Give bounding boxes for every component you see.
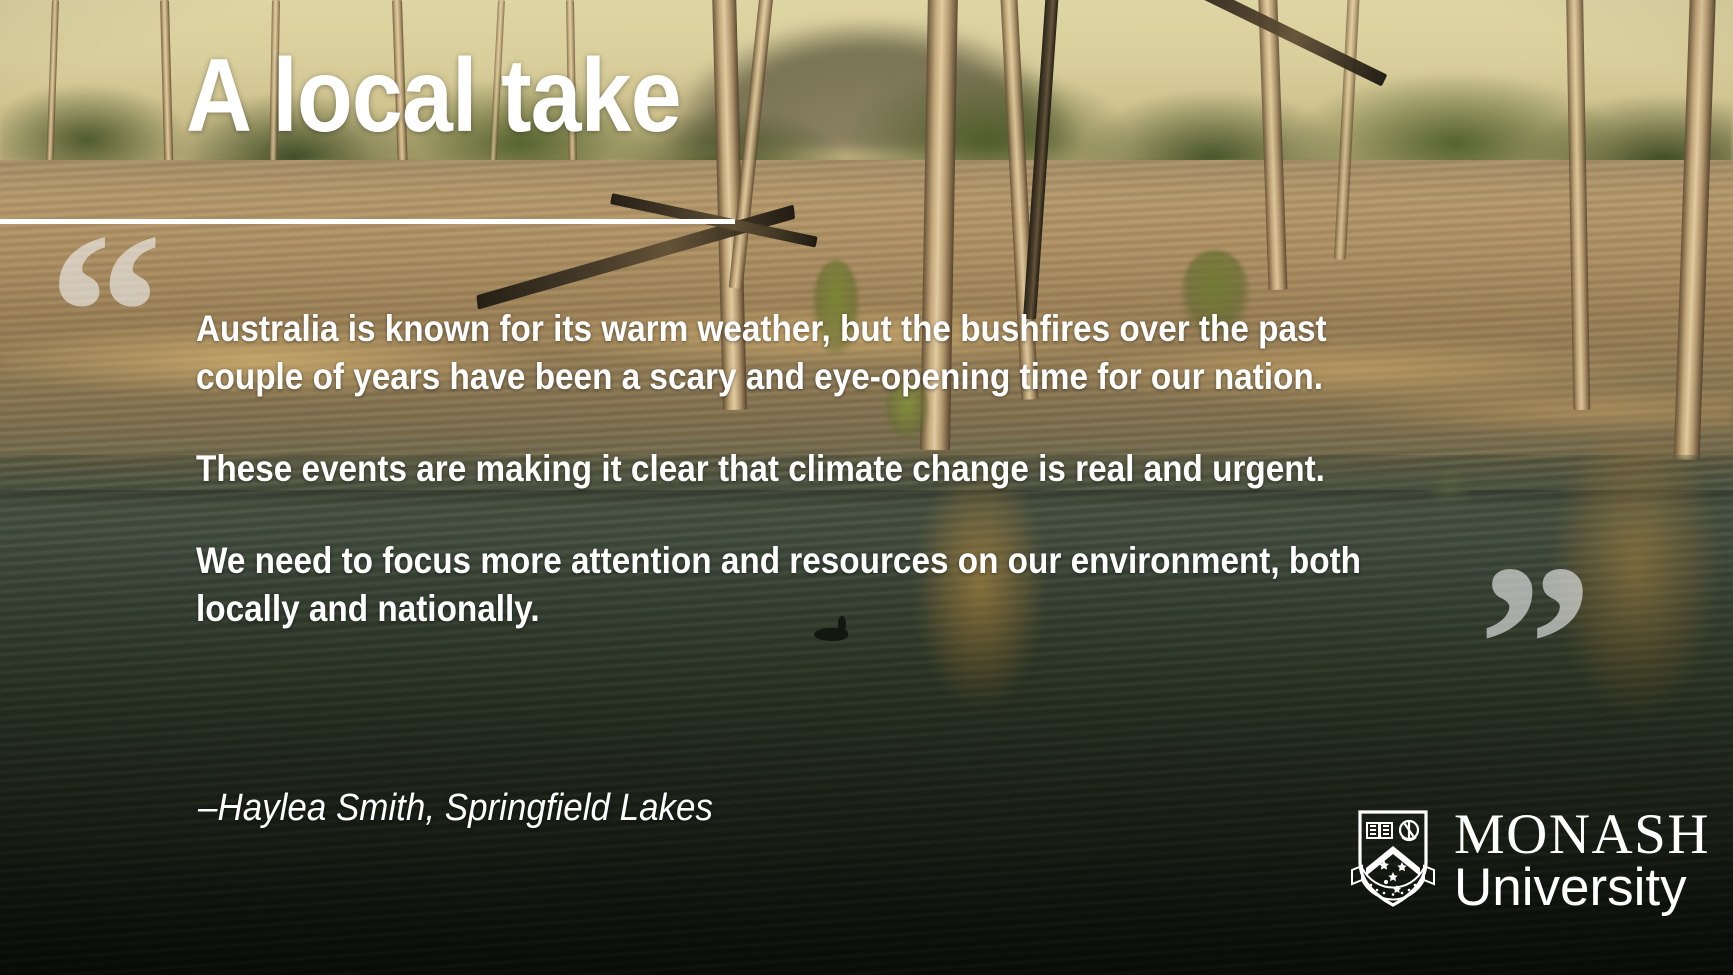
monash-crest-icon — [1350, 806, 1436, 916]
quote-paragraph: Australia is known for its warm weather,… — [196, 305, 1375, 401]
wordmark-line-monash: MONASH — [1454, 809, 1710, 861]
monash-wordmark: MONASH University — [1454, 809, 1710, 912]
quote-body: Australia is known for its warm weather,… — [196, 305, 1375, 633]
open-quote-icon: “ — [48, 198, 163, 428]
quote-attribution: –Haylea Smith, Springfield Lakes — [198, 787, 713, 830]
page-title: A local take — [186, 44, 681, 148]
close-quote-icon: ” — [1478, 530, 1593, 760]
quote-paragraph: We need to focus more attention and reso… — [196, 537, 1375, 633]
quote-paragraph: These events are making it clear that cl… — [196, 445, 1375, 493]
slide-canvas: A local take “ ” Australia is known for … — [0, 0, 1733, 975]
wordmark-line-university: University — [1454, 864, 1710, 913]
monash-logo: MONASH University — [1350, 806, 1710, 916]
